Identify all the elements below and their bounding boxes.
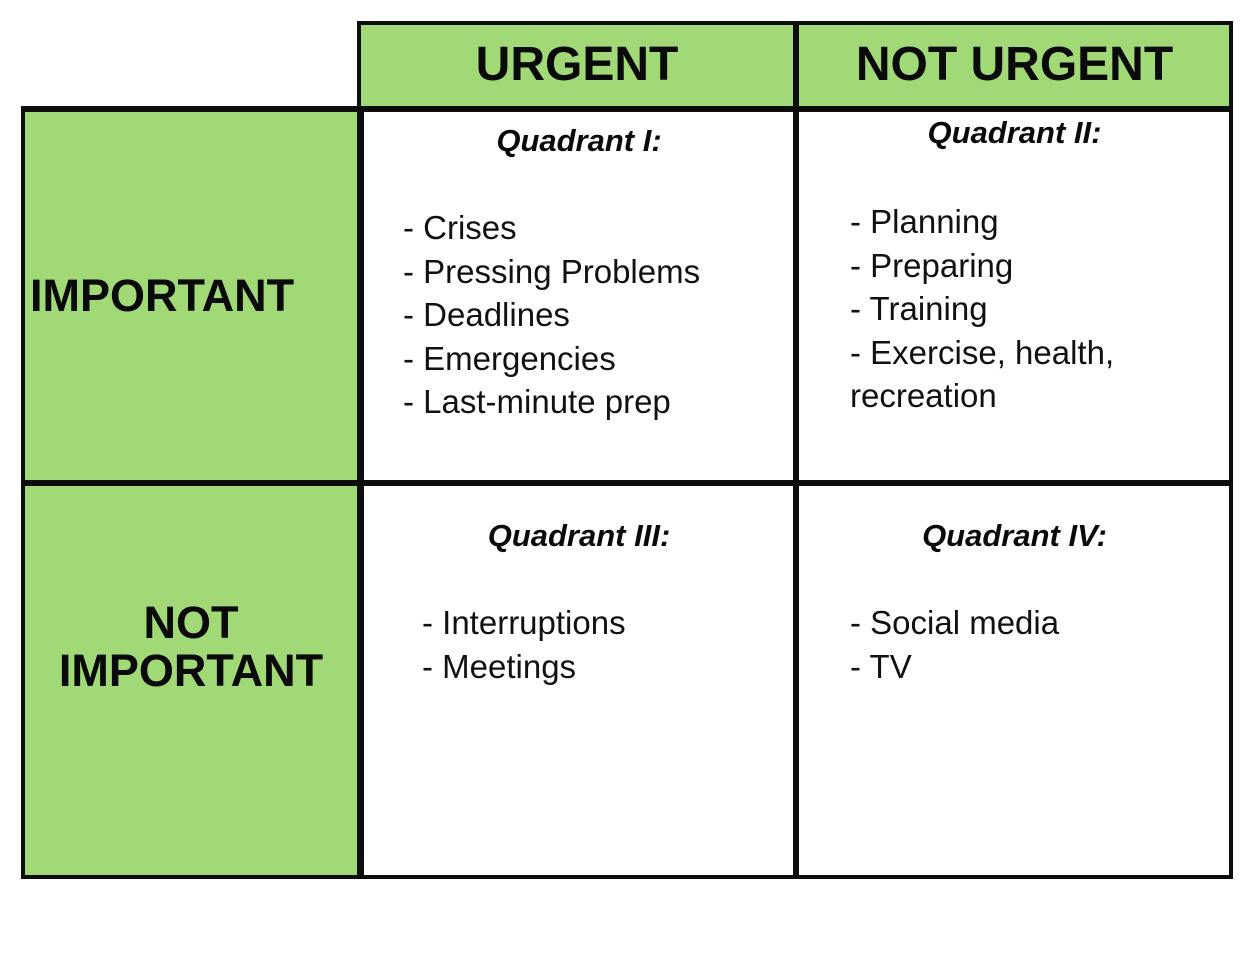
grid-line-header-bottom-right bbox=[845, 108, 1233, 110]
quadrant-4-cell: Quadrant IV: - Social media- TV bbox=[796, 483, 1233, 879]
list-item: - Planning bbox=[850, 200, 1196, 244]
quadrant-2-title: Quadrant II: bbox=[799, 116, 1230, 150]
list-item: - Emergencies bbox=[403, 337, 794, 381]
row-header-important: IMPORTANT bbox=[21, 109, 361, 483]
grid-line-column-1 bbox=[357, 21, 361, 879]
quadrant-3-cell: Quadrant III: - Interruptions- Meetings bbox=[361, 483, 797, 879]
quadrant-3-list: - Interruptions- Meetings bbox=[364, 601, 794, 688]
eisenhower-matrix: URGENT NOT URGENT IMPORTANT NOTIMPORTANT… bbox=[0, 0, 1256, 970]
quadrant-4-list: - Social media- TV bbox=[799, 601, 1230, 688]
quadrant-3-title: Quadrant III: bbox=[364, 519, 794, 553]
list-item: - Training bbox=[850, 287, 1196, 331]
grid-line-right bbox=[1229, 21, 1233, 879]
grid-line-middle-horizontal bbox=[21, 480, 1233, 484]
row-header-not-important: NOTIMPORTANT bbox=[21, 483, 361, 879]
grid-line-header-bottom bbox=[21, 106, 845, 111]
column-header-urgent-label: URGENT bbox=[476, 41, 679, 89]
list-item: - Meetings bbox=[422, 645, 794, 689]
list-item: - Deadlines bbox=[403, 293, 794, 337]
quadrant-2-cell: Quadrant II: - Planning- Preparing- Trai… bbox=[796, 109, 1233, 483]
column-header-not-urgent: NOT URGENT bbox=[796, 21, 1233, 109]
grid-line-left bbox=[21, 106, 25, 879]
column-header-urgent: URGENT bbox=[357, 21, 797, 109]
quadrant-2-list: - Planning- Preparing- Training- Exercis… bbox=[799, 200, 1230, 418]
list-item: - TV bbox=[850, 645, 1230, 689]
grid-line-column-2 bbox=[793, 21, 797, 879]
grid-line-bottom bbox=[21, 875, 1233, 879]
list-item: - Pressing Problems bbox=[403, 250, 794, 294]
row-header-not-important-label: NOTIMPORTANT bbox=[24, 599, 358, 762]
list-item: - Exercise, health, recreation bbox=[850, 331, 1196, 418]
list-item: - Interruptions bbox=[422, 601, 794, 645]
list-item: - Crises bbox=[403, 206, 794, 250]
row-header-important-label: IMPORTANT bbox=[24, 272, 358, 320]
list-item: - Preparing bbox=[850, 244, 1196, 288]
list-item: - Last-minute prep bbox=[403, 380, 794, 424]
quadrant-4-title: Quadrant IV: bbox=[799, 519, 1230, 553]
quadrant-1-cell: Quadrant I: - Crises- Pressing Problems-… bbox=[361, 109, 797, 483]
column-header-not-urgent-label: NOT URGENT bbox=[856, 41, 1173, 89]
list-item: - Social media bbox=[850, 601, 1230, 645]
quadrant-1-list: - Crises- Pressing Problems- Deadlines- … bbox=[364, 206, 794, 424]
quadrant-1-title: Quadrant I: bbox=[364, 124, 794, 158]
